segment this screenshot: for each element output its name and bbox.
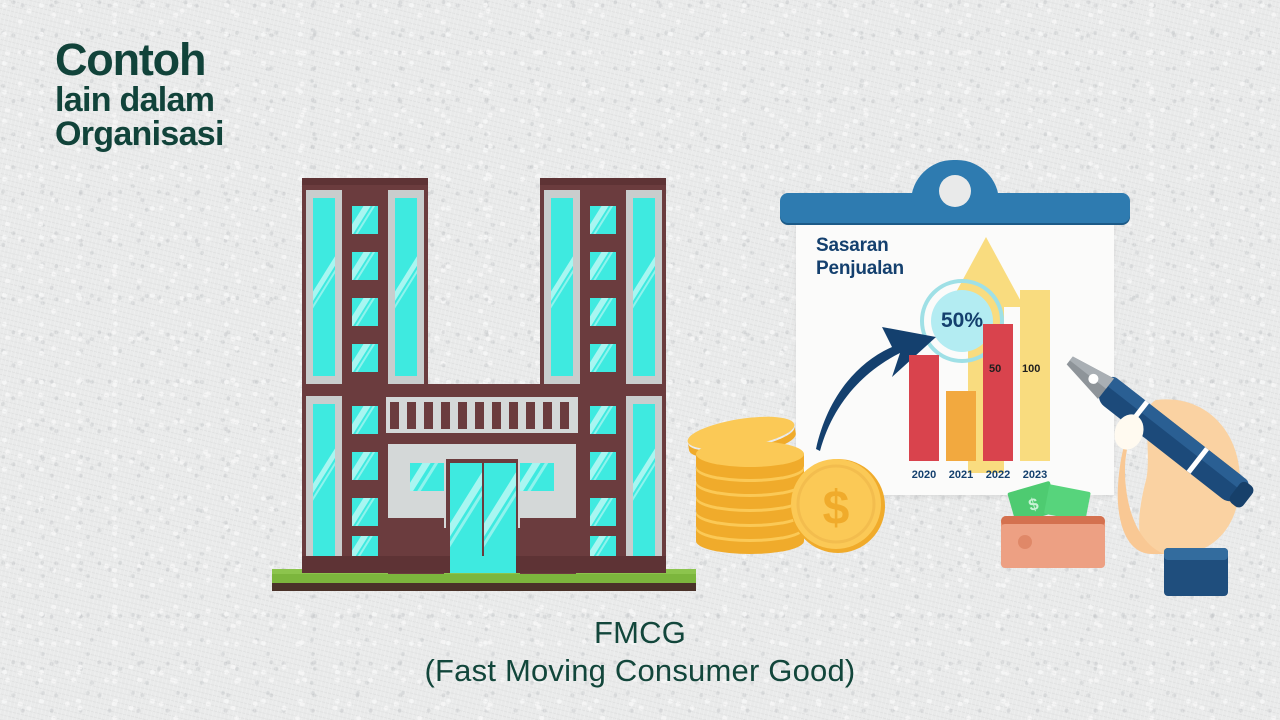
right-tower-window-strip-b2	[633, 404, 655, 556]
bar-2023	[1020, 290, 1050, 461]
left-tower-window-m7	[352, 498, 378, 526]
page-title: Contoh lain dalam Organisasi	[55, 38, 224, 152]
bar-value-2022: 50	[989, 363, 1001, 375]
office-building-illustration	[298, 178, 670, 590]
hand-holding-pen-illustration	[1060, 340, 1280, 610]
facade-window-left	[410, 463, 444, 491]
right-tower-window-m4	[590, 344, 616, 372]
chart-title-line-1: Sasaran	[816, 235, 889, 256]
dollar-coin-icon: $	[790, 458, 886, 554]
awning-top-rail	[380, 384, 584, 397]
awning-bottom-rail	[380, 433, 584, 444]
clipboard-clip-hole	[939, 175, 971, 207]
left-tower-window-strip-b1	[395, 198, 417, 376]
bar-2021	[946, 391, 976, 461]
title-line-1: Contoh	[55, 38, 224, 83]
coin-stack-illustration: $	[686, 415, 886, 565]
right-tower-window-strip-a1	[551, 198, 573, 376]
right-tower-window-m8	[590, 536, 616, 558]
slide-canvas: Contoh lain dalam Organisasi	[0, 0, 1280, 720]
caption-block: FMCG (Fast Moving Consumer Good)	[0, 615, 1280, 689]
bar-chart: 50 100 2020 2021 2022 2023	[888, 267, 1088, 495]
svg-text:$: $	[823, 482, 850, 535]
left-tower-window-m8	[352, 536, 378, 558]
bar-category-2021: 2021	[940, 469, 982, 481]
facade-window-right	[520, 463, 554, 491]
bar-2020	[909, 355, 939, 461]
left-tower-window-strip-a2	[313, 404, 335, 556]
right-tower-window-m1	[590, 206, 616, 234]
title-line-2: lain dalam	[55, 84, 224, 118]
right-tower-window-strip-b1	[633, 198, 655, 376]
left-tower-window-m1	[352, 206, 378, 234]
caption-line-1: FMCG	[0, 615, 1280, 650]
bar-category-2020: 2020	[903, 469, 945, 481]
caption-line-2: (Fast Moving Consumer Good)	[0, 653, 1280, 688]
bar-value-2023: 100	[1022, 363, 1040, 375]
right-tower-window-m7	[590, 498, 616, 526]
left-tower-window-m5	[352, 406, 378, 434]
bar-2022	[983, 324, 1013, 461]
left-tower-window-m4	[352, 344, 378, 372]
title-line-3: Organisasi	[55, 118, 224, 152]
balustrade-bars	[390, 402, 574, 429]
right-tower-window-m6	[590, 452, 616, 480]
left-tower-window-m2	[352, 252, 378, 280]
right-tower-window-m5	[590, 406, 616, 434]
ground-shadow	[272, 582, 696, 591]
left-tower-window-m3	[352, 298, 378, 326]
right-tower-window-m3	[590, 298, 616, 326]
plinth-door-gap	[450, 556, 516, 573]
hand-with-fountain-pen-icon	[1060, 340, 1280, 610]
left-tower-window-strip-a1	[313, 198, 335, 376]
left-tower-window-m6	[352, 452, 378, 480]
right-tower-window-m2	[590, 252, 616, 280]
